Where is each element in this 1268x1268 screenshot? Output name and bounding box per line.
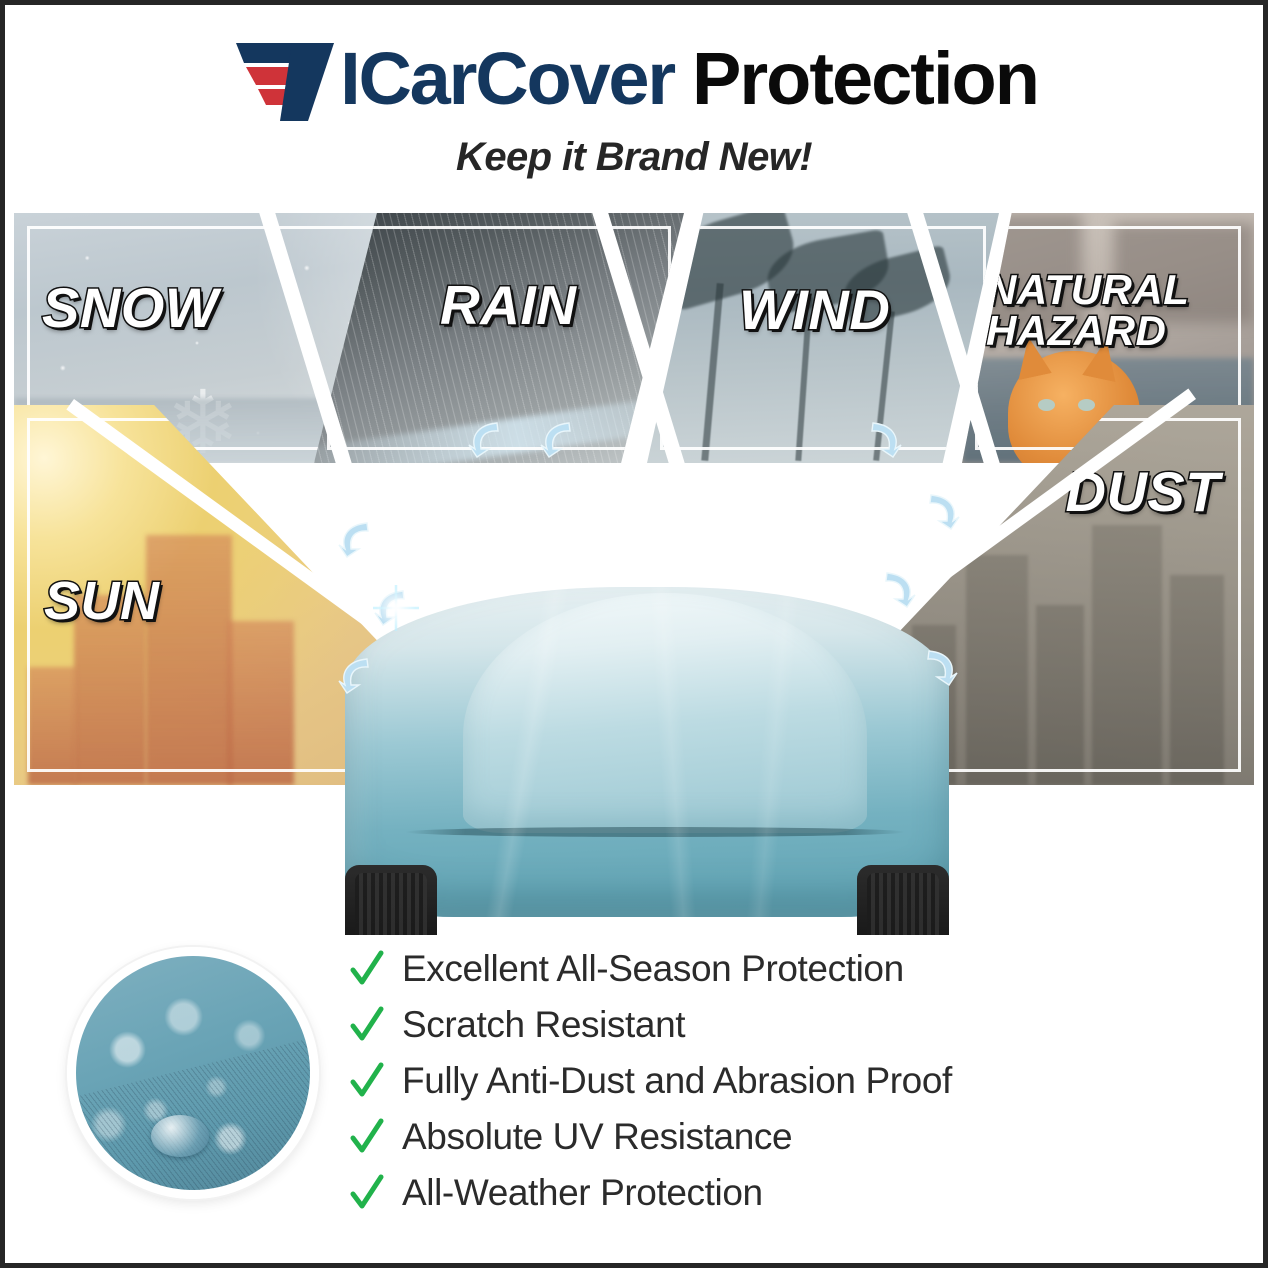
feature-label: Excellent All-Season Protection bbox=[402, 948, 904, 990]
palm-trunk bbox=[701, 283, 723, 461]
deflection-arrow-icon bbox=[539, 419, 573, 459]
feature-label: Absolute UV Resistance bbox=[402, 1116, 792, 1158]
cat-eye-left bbox=[1038, 399, 1055, 411]
car-cover-roof bbox=[463, 593, 867, 833]
deflection-arrow-icon bbox=[467, 419, 501, 459]
feature-item: All-Weather Protection bbox=[350, 1165, 1180, 1221]
feature-label: All-Weather Protection bbox=[402, 1172, 763, 1214]
brand-name: ICarCover bbox=[340, 37, 674, 121]
check-icon bbox=[350, 1005, 384, 1045]
feature-label: Scratch Resistant bbox=[402, 1004, 685, 1046]
cat-eye-right bbox=[1078, 399, 1095, 411]
brand-suffix: Protection bbox=[692, 37, 1038, 121]
panel-label-sun: SUN bbox=[44, 575, 160, 628]
deflection-arrow-icon bbox=[883, 569, 917, 609]
check-icon bbox=[350, 1173, 384, 1213]
building bbox=[228, 621, 294, 785]
deflection-arrow-icon bbox=[337, 655, 371, 695]
feature-item: Excellent All-Season Protection bbox=[350, 941, 1180, 997]
building bbox=[28, 667, 76, 785]
deflection-arrow-icon bbox=[925, 647, 959, 687]
car-cover-body bbox=[345, 587, 949, 917]
panel-label-rain: RAIN bbox=[440, 279, 576, 333]
product-infographic: ICarCover Protection Keep it Brand New! … bbox=[0, 0, 1268, 1268]
deflection-arrow-icon bbox=[337, 519, 371, 559]
car-cover-seam bbox=[405, 827, 905, 837]
title-row: ICarCover Protection bbox=[230, 31, 1038, 127]
header: ICarCover Protection Keep it Brand New! bbox=[5, 5, 1263, 205]
tagline: Keep it Brand New! bbox=[456, 135, 812, 180]
feature-item: Fully Anti-Dust and Abrasion Proof bbox=[350, 1053, 1180, 1109]
check-icon bbox=[350, 1117, 384, 1157]
panel-label-wind: WIND bbox=[739, 283, 890, 338]
deflection-arrow-icon bbox=[927, 491, 961, 531]
shine-sparkle-icon bbox=[373, 585, 419, 631]
check-icon bbox=[350, 949, 384, 989]
feature-item: Scratch Resistant bbox=[350, 997, 1180, 1053]
panel-label-snow: SNOW bbox=[42, 281, 218, 336]
features-section: Excellent All-Season Protection Scratch … bbox=[5, 935, 1263, 1263]
check-icon bbox=[350, 1061, 384, 1101]
feature-list: Excellent All-Season Protection Scratch … bbox=[350, 941, 1180, 1221]
panel-label-natural-hazard: NATURAL HAZARD bbox=[986, 269, 1189, 351]
deflection-arrow-icon bbox=[869, 419, 903, 459]
feature-item: Absolute UV Resistance bbox=[350, 1109, 1180, 1165]
icarcover-flag-logo-icon bbox=[230, 37, 338, 121]
feature-label: Fully Anti-Dust and Abrasion Proof bbox=[402, 1060, 952, 1102]
covered-car-image bbox=[327, 437, 967, 957]
water-beading-swatch bbox=[67, 947, 319, 1199]
water-droplet bbox=[151, 1115, 209, 1157]
